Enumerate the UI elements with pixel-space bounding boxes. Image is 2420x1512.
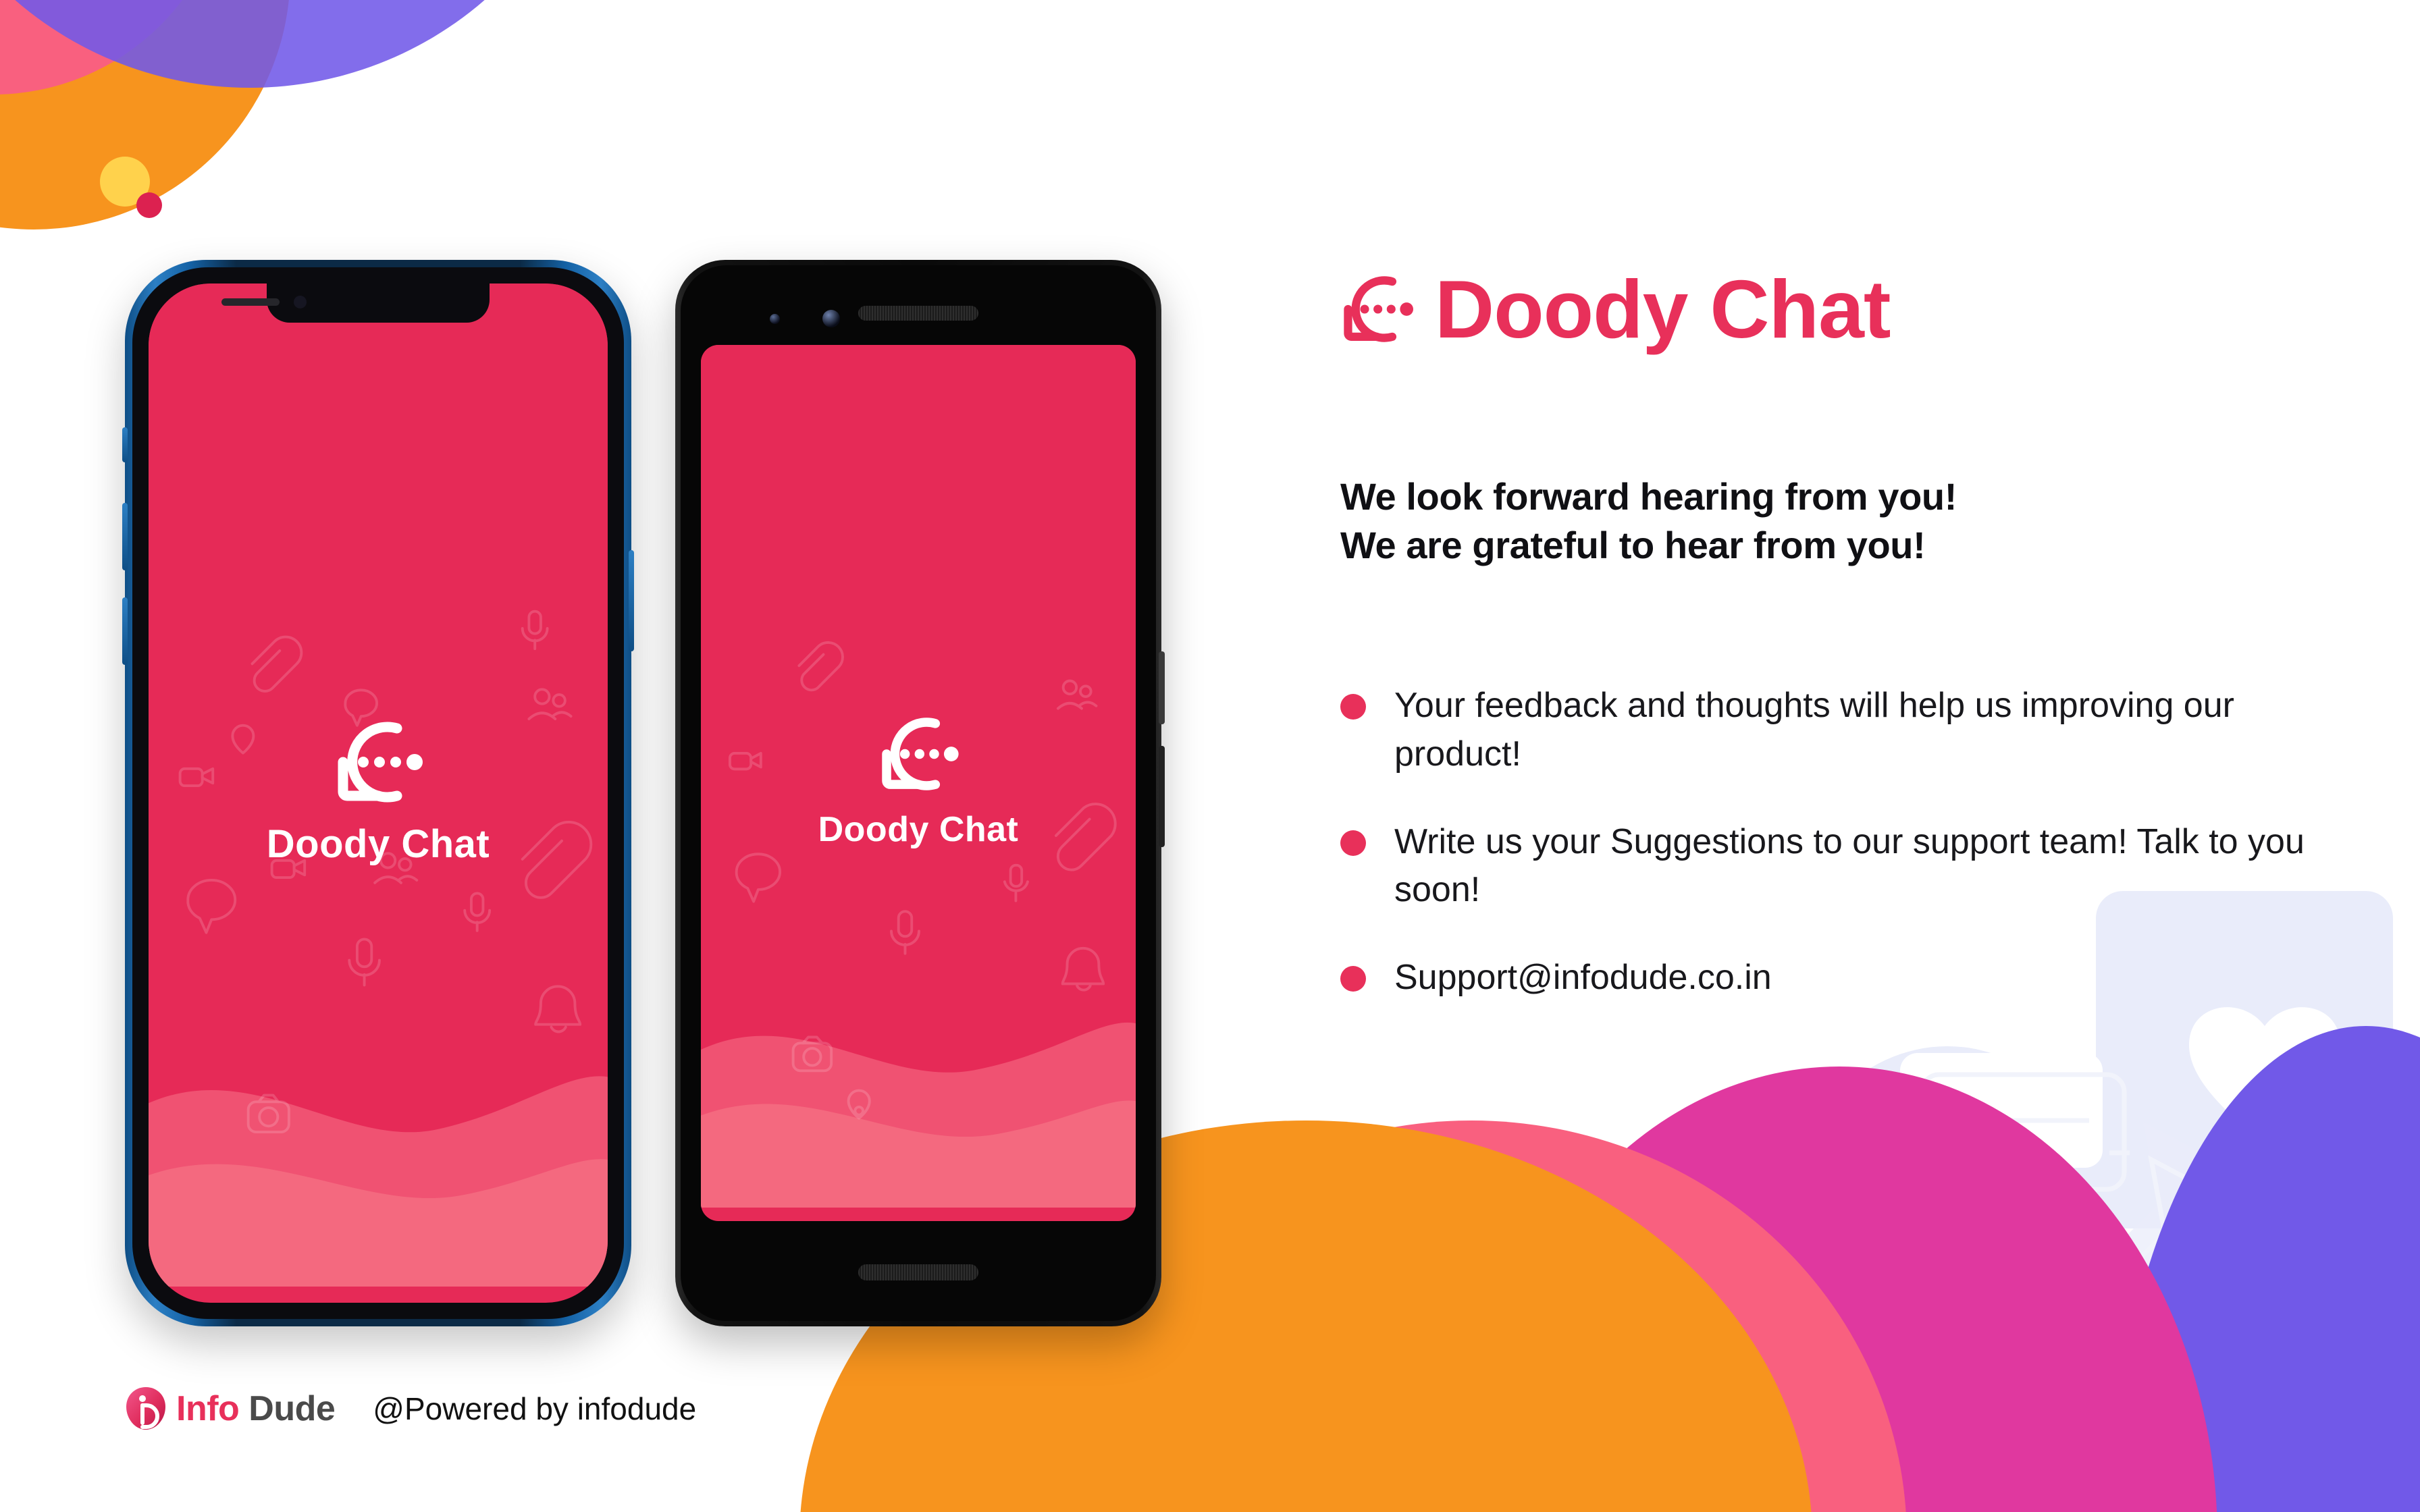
pixel-front-camera-icon xyxy=(822,310,840,327)
headline-line-1: We look forward hearing from you! xyxy=(1340,473,2299,521)
chat-bubble-dots-icon xyxy=(878,716,959,792)
infodude-pin-icon xyxy=(125,1385,167,1432)
iphone-front-camera-icon xyxy=(294,296,307,308)
iphone-screen[interactable]: Doody Chat xyxy=(149,283,608,1303)
powered-by-text: @Powered by infodude xyxy=(373,1390,696,1427)
iphone-mockup: Doody Chat xyxy=(125,260,631,1326)
pixel-screen[interactable]: Doody Chat xyxy=(701,345,1136,1221)
headline-line-2: We are grateful to hear from you! xyxy=(1340,521,2299,570)
pixel-frame: Doody Chat xyxy=(675,260,1161,1326)
pattern-bell-icon xyxy=(535,986,580,1031)
pattern-group-icon xyxy=(1058,681,1097,709)
pattern-paperclip-icon xyxy=(799,643,843,690)
pixel-earpiece-speaker xyxy=(858,306,978,321)
pattern-mic-icon xyxy=(1005,865,1028,901)
pattern-camera-icon xyxy=(248,1096,289,1132)
pattern-mic-icon xyxy=(523,612,548,649)
iphone-volume-up-button[interactable] xyxy=(122,503,128,570)
pattern-chat-icon xyxy=(737,854,780,901)
pattern-mic-icon xyxy=(465,893,490,930)
infodude-word-dude: Dude xyxy=(248,1388,335,1429)
iphone-earpiece-speaker xyxy=(221,298,280,306)
list-item: Write us your Suggestions to our support… xyxy=(1340,818,2319,915)
infodude-word-info: Info xyxy=(176,1388,239,1429)
poster-canvas: Doody Chat xyxy=(0,0,2420,1512)
pattern-camera-icon xyxy=(793,1037,832,1071)
bullet-dot-icon xyxy=(1340,830,1366,856)
pattern-video-icon xyxy=(180,769,213,786)
pattern-location-icon xyxy=(232,726,253,753)
bullet-dot-icon xyxy=(1340,694,1366,720)
pixel-bottom-speaker xyxy=(858,1264,978,1280)
pattern-paperclip-icon xyxy=(1056,804,1115,870)
bullet-list: Your feedback and thoughts will help us … xyxy=(1340,682,2319,1042)
headline-block: We look forward hearing from you! We are… xyxy=(1340,473,2299,569)
footer: Info Dude @Powered by infodude xyxy=(125,1385,696,1432)
pixel-mockup: Doody Chat xyxy=(675,260,1161,1326)
iphone-power-button[interactable] xyxy=(629,550,634,651)
list-item-email[interactable]: Support@infodude.co.in xyxy=(1340,954,2319,1002)
phone-mockups: Doody Chat xyxy=(0,0,1283,1512)
pixel-bezel: Doody Chat xyxy=(681,265,1156,1321)
list-item: Your feedback and thoughts will help us … xyxy=(1340,682,2319,779)
brand-title: Doody Chat xyxy=(1435,262,1891,356)
pixel-front-sensor-icon xyxy=(770,314,780,324)
pixel-power-button[interactable] xyxy=(1159,651,1165,724)
support-email[interactable]: Support@infodude.co.in xyxy=(1394,954,1772,1002)
pattern-paperclip-icon xyxy=(252,637,301,691)
chat-bubble-dots-icon xyxy=(334,720,423,804)
bullet-dot-icon xyxy=(1340,966,1366,992)
pattern-mic-icon xyxy=(891,911,919,953)
iphone-app-name: Doody Chat xyxy=(267,821,490,867)
pattern-mic-icon xyxy=(349,939,379,985)
iphone-mute-switch[interactable] xyxy=(122,427,128,462)
bullet-text: Your feedback and thoughts will help us … xyxy=(1394,682,2319,779)
brand-header: Doody Chat xyxy=(1340,262,1891,356)
chat-bubble-dots-icon xyxy=(1340,275,1413,344)
iphone-bezel: Doody Chat xyxy=(132,267,624,1319)
pattern-video-icon xyxy=(730,753,761,769)
pattern-paperclip-icon xyxy=(523,822,591,898)
bullet-text: Write us your Suggestions to our support… xyxy=(1394,818,2319,915)
pattern-chat-icon xyxy=(188,880,235,933)
iphone-volume-down-button[interactable] xyxy=(122,597,128,665)
infodude-logo[interactable]: Info Dude xyxy=(125,1385,335,1432)
pattern-bell-icon xyxy=(1063,948,1103,990)
pattern-location-icon xyxy=(849,1091,870,1118)
content-panel: Doody Chat We look forward hearing from … xyxy=(1340,0,2394,1512)
pixel-app-name: Doody Chat xyxy=(818,809,1019,850)
pattern-group-icon xyxy=(529,689,571,719)
pixel-volume-button[interactable] xyxy=(1159,746,1165,847)
